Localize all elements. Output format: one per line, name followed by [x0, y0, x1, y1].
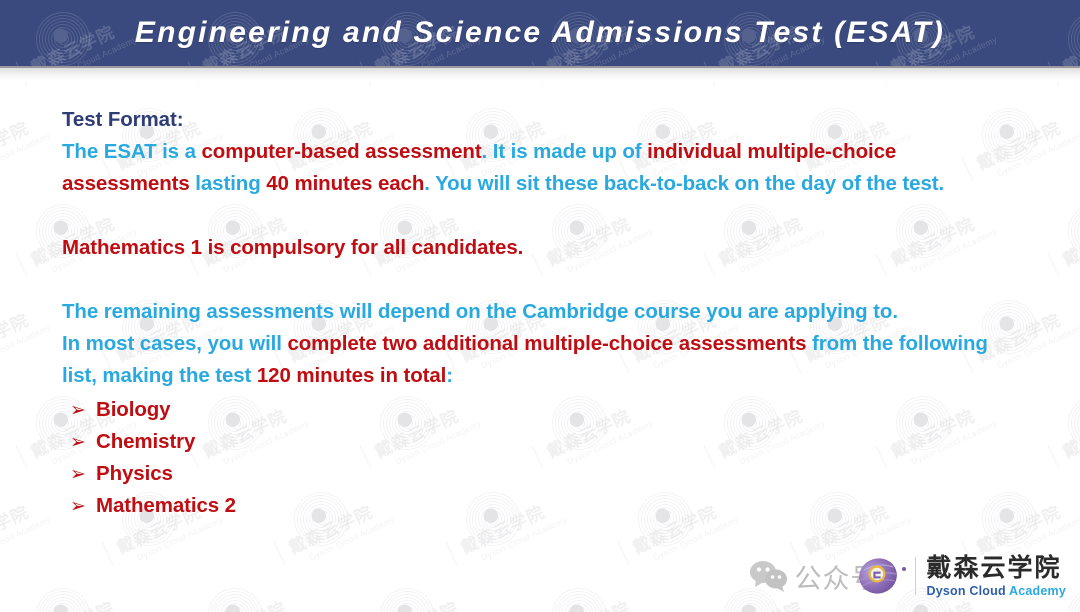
slide-canvas: 戴森云学院Dyson Cloud Academy戴森云学院Dyson Cloud…: [0, 0, 1080, 612]
text-segment-cyan: lasting: [190, 172, 267, 195]
text-segment-red: 120 minutes in total: [257, 364, 446, 387]
paragraph-test-format: The ESAT is a computer-based assessment.…: [62, 136, 1014, 200]
watermark-spiral-icon: [552, 588, 606, 612]
watermark-text: 戴森云学院Dyson Cloud Academy: [26, 587, 139, 612]
paragraph-spacer-2: [62, 264, 1014, 296]
list-item: ➢ Mathematics 2: [62, 490, 1014, 522]
watermark-text: 戴森云学院Dyson Cloud Academy: [198, 587, 311, 612]
list-item: ➢ Physics: [62, 458, 1014, 490]
watermark-text-en: Dyson Cloud Academy: [0, 514, 53, 563]
watermark-text-cn: 戴森云学院: [542, 587, 650, 612]
watermark-text-en: Dyson Cloud Academy: [0, 130, 53, 179]
watermark-text: 戴森云学院Dyson Cloud Academy: [0, 491, 53, 569]
watermark-text-cn: 戴森云学院: [0, 107, 48, 175]
watermark-text-cn: 戴森云学院: [1058, 395, 1080, 463]
watermark-divider: [16, 254, 28, 278]
text-segment-red: 40 minutes each: [266, 172, 424, 195]
brand-name-en: Dyson Cloud Academy: [927, 583, 1067, 599]
subject-label: Chemistry: [96, 426, 195, 457]
brand-names: 戴森云学院 Dyson Cloud Academy: [927, 554, 1067, 599]
subject-label: Physics: [96, 458, 173, 489]
text-segment-cyan: In most cases, you will: [62, 332, 287, 355]
paragraph-remaining-assessments: The remaining assessments will depend on…: [62, 296, 1014, 328]
brand-en-cloud: Cloud: [969, 584, 1009, 598]
arrow-bullet-icon: ➢: [70, 491, 96, 522]
paragraph-compulsory: Mathematics 1 is compulsory for all cand…: [62, 232, 1014, 264]
text-segment-cyan: . It is made up of: [482, 140, 648, 163]
list-item: ➢ Chemistry: [62, 426, 1014, 458]
page-title: Engineering and Science Admissions Test …: [0, 0, 1080, 66]
subject-list: ➢ Biology ➢ Chemistry ➢ Physics ➢ Mathem…: [62, 394, 1014, 522]
watermark-divider: [102, 542, 114, 566]
watermark-text: 戴森云学院Dyson Cloud Academy: [370, 587, 483, 612]
watermark-text: 戴森云学院Dyson Cloud Academy: [0, 299, 53, 377]
text-segment-cyan: :: [446, 364, 453, 387]
watermark-spiral-icon: [1068, 588, 1080, 612]
brand-en-dyson: Dyson: [927, 584, 970, 598]
watermark-spiral-icon: [208, 588, 262, 612]
text-segment-red: complete two additional multiple-choice …: [287, 332, 806, 355]
text-segment-cyan: The ESAT is a: [62, 140, 201, 163]
watermark-divider: [274, 542, 286, 566]
logo-accent-dot: [902, 567, 906, 571]
arrow-bullet-icon: ➢: [70, 427, 96, 458]
brand-divider: [915, 557, 916, 595]
arrow-bullet-icon: ➢: [70, 459, 96, 490]
paragraph-additional-assessments: In most cases, you will complete two add…: [62, 328, 1014, 392]
watermark-text-cn: 戴森云学院: [26, 587, 134, 612]
wechat-icon: [749, 560, 789, 592]
watermark-text-cn: 戴森云学院: [1058, 203, 1080, 271]
text-segment-red: computer-based assessment: [201, 140, 481, 163]
watermark-spiral-icon: [380, 588, 434, 612]
watermark-spiral-icon: [1068, 204, 1080, 258]
paragraph-spacer-1: [62, 200, 1014, 232]
brand-en-academy: Academy: [1009, 584, 1066, 598]
slide-body: Test Format: The ESAT is a computer-base…: [62, 104, 1014, 522]
subject-label: Mathematics 2: [96, 490, 236, 521]
watermark-text: 戴森云学院Dyson Cloud Academy: [1058, 395, 1080, 473]
watermark-divider: [618, 542, 630, 566]
brand-name-cn: 戴森云学院: [927, 554, 1067, 582]
watermark-spiral-icon: [1068, 396, 1080, 450]
arrow-bullet-icon: ➢: [70, 395, 96, 426]
watermark-divider: [16, 446, 28, 470]
watermark-text: 戴森云学院Dyson Cloud Academy: [0, 107, 53, 185]
header-shadow-divider: [0, 66, 1080, 82]
watermark-text-cn: 戴森云学院: [198, 587, 306, 612]
list-item: ➢ Biology: [62, 394, 1014, 426]
watermark-text: 戴森云学院Dyson Cloud Academy: [542, 587, 655, 612]
watermark-divider: [446, 542, 458, 566]
test-format-heading: Test Format:: [62, 104, 1014, 136]
text-segment-red: Mathematics 1 is compulsory for all cand…: [62, 236, 523, 259]
subject-label: Biology: [96, 394, 170, 425]
text-segment-cyan: . You will sit these back-to-back on the…: [424, 172, 944, 195]
watermark-divider: [1048, 254, 1060, 278]
footer-brand: 公众号 戴森云学院 Dyson Cloud Academy: [749, 550, 1067, 602]
watermark-text-en: Dyson Cloud Academy: [0, 322, 53, 371]
watermark-divider: [1048, 446, 1060, 470]
watermark-text-cn: 戴森云学院: [370, 587, 478, 612]
watermark-spiral-icon: [36, 588, 90, 612]
dyson-cloud-logo-icon: [857, 555, 899, 597]
text-segment-cyan: The remaining assessments will depend on…: [62, 300, 898, 323]
watermark-text-cn: 戴森云学院: [0, 299, 48, 367]
watermark-text: 戴森云学院Dyson Cloud Academy: [1058, 203, 1080, 281]
watermark-text-cn: 戴森云学院: [0, 491, 48, 559]
